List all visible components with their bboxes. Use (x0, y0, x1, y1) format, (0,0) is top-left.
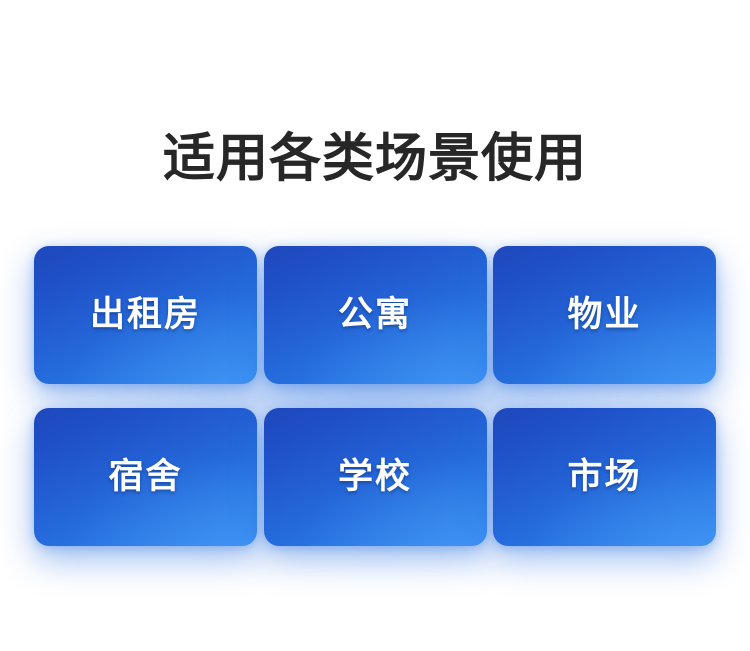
scene-card-label: 宿舍 (108, 457, 182, 497)
scene-card-school[interactable]: 学校 (264, 408, 487, 546)
scene-card-label: 出租房 (90, 295, 201, 335)
scene-card-label: 市场 (567, 457, 641, 497)
scene-card-label: 公寓 (338, 295, 412, 335)
scene-card-rental-room[interactable]: 出租房 (34, 246, 257, 384)
scene-card-apartment[interactable]: 公寓 (264, 246, 487, 384)
scenario-showcase-page: 适用各类场景使用 出租房 公寓 物业 宿舍 学校 市场 (0, 0, 750, 651)
scene-card-grid: 出租房 公寓 物业 宿舍 学校 市场 (34, 246, 716, 546)
page-title: 适用各类场景使用 (0, 127, 750, 191)
scene-card-dormitory[interactable]: 宿舍 (34, 408, 257, 546)
scene-card-label: 物业 (567, 295, 641, 335)
scene-card-property[interactable]: 物业 (493, 246, 716, 384)
scene-card-market[interactable]: 市场 (493, 408, 716, 546)
scene-card-label: 学校 (338, 457, 412, 497)
